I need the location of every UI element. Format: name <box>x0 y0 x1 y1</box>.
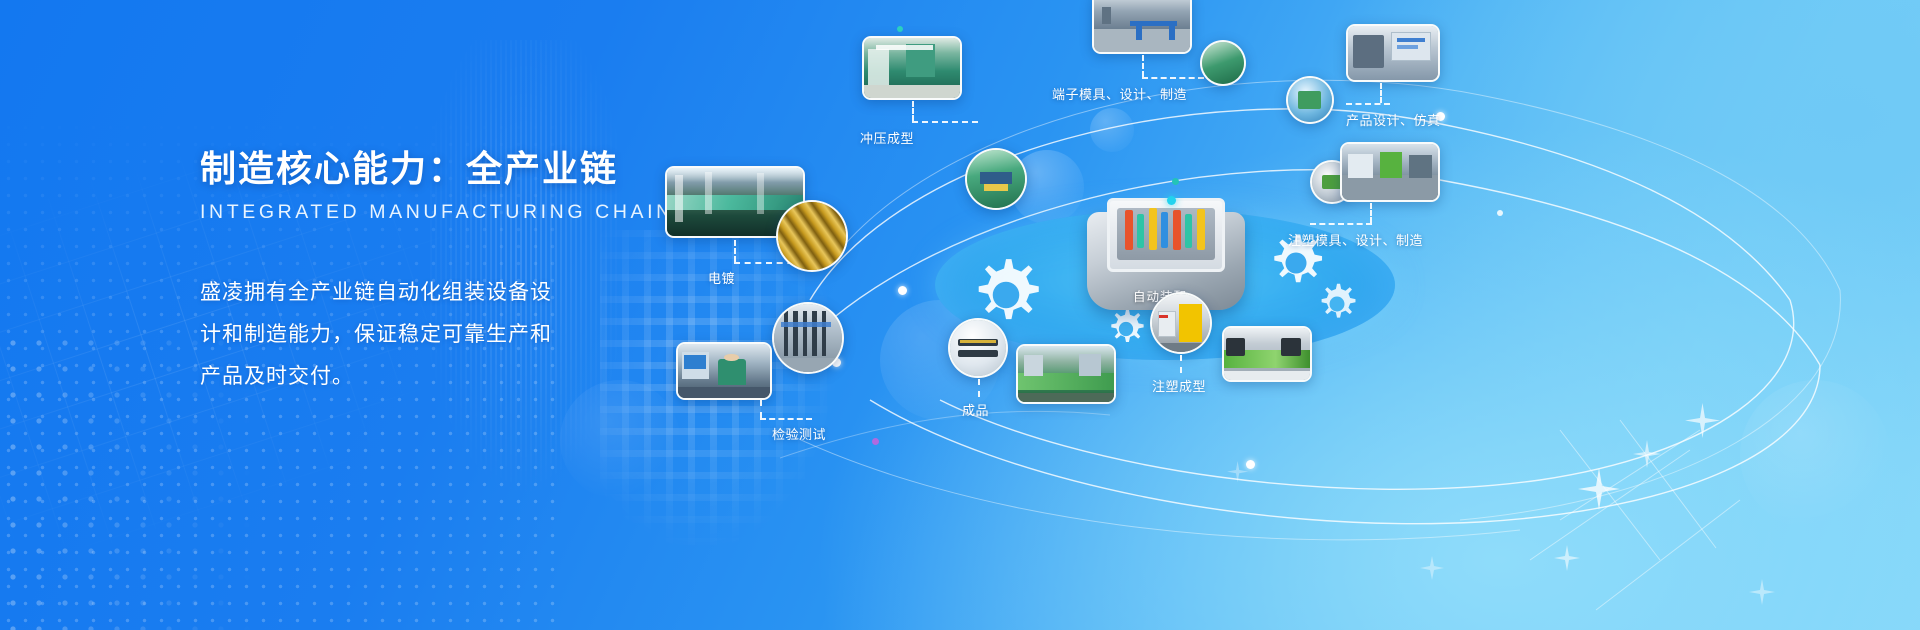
thumb-finished-product[interactable] <box>948 318 1008 378</box>
connector-finished-vertical <box>978 379 980 397</box>
manufacturing-chain-banner: 制造核心能力：全产业链 INTEGRATED MANUFACTURING CHA… <box>0 0 1920 630</box>
connector-electroplating-vertical <box>734 240 736 262</box>
yellow-injection-machine-photo <box>1152 294 1210 352</box>
accent-dot-cyan-1 <box>897 26 903 32</box>
test-probe-fixture-photo <box>774 304 842 372</box>
gold-terminal-mold-photo <box>778 202 846 270</box>
green-circuit-board-photo <box>1202 42 1244 84</box>
label-finished-product: 成品 <box>962 400 989 419</box>
connector-terminal-mold-horizontal <box>1142 77 1204 79</box>
thumb-inspection-testing[interactable] <box>676 342 772 400</box>
label-injection-form: 注塑成型 <box>1152 376 1206 395</box>
connector-product-design-horizontal <box>1346 103 1390 105</box>
connector-injection-mold-vertical <box>1370 203 1372 223</box>
thumb-terminal-mold[interactable] <box>1092 0 1192 54</box>
orbit-node-dot-1 <box>898 286 907 295</box>
label-product-design: 产品设计、仿真 <box>1346 110 1441 129</box>
stamping-machine-photo <box>864 38 960 98</box>
inspection-testing-photo <box>678 344 770 398</box>
connector-injection-mold-horizontal <box>1310 223 1372 225</box>
supply-chain-diagram: 自动装配 电镀 <box>780 0 1920 630</box>
connector-product-design-vertical <box>1380 83 1382 103</box>
thumb-yellow-injection-machine[interactable] <box>1150 292 1212 354</box>
accent-dot-white-1 <box>1497 210 1503 216</box>
injection-mold-workshop-photo <box>1342 144 1438 200</box>
connector-injection-form-vertical <box>1180 355 1182 373</box>
label-electroplating: 电镀 <box>708 268 735 287</box>
thumb-stamping[interactable] <box>862 36 962 100</box>
accent-dot-purple <box>872 438 879 445</box>
connector-inspection-vertical <box>760 400 762 418</box>
label-stamping: 冲压成型 <box>860 128 914 147</box>
connector-stamping-horizontal <box>912 121 978 123</box>
label-terminal-mold: 端子模具、设计、制造 <box>1052 84 1187 103</box>
thumb-product-design[interactable] <box>1346 24 1440 82</box>
thumb-green-production-line[interactable] <box>1016 344 1116 404</box>
terminal-mold-workshop-photo <box>1094 0 1190 52</box>
glow-bubble-6 <box>560 380 680 500</box>
thumb-green-circuit-board[interactable] <box>1200 40 1246 86</box>
label-inspection-testing: 检验测试 <box>772 424 826 443</box>
label-injection-mold: 注塑模具、设计、制造 <box>1288 230 1423 249</box>
finished-connector-photo <box>950 320 1006 376</box>
description-text: 盛凌拥有全产业链自动化组装设备设计和制造能力，保证稳定可靠生产和产品及时交付。 <box>200 272 560 398</box>
gear-icon-far-right <box>1315 282 1359 326</box>
thumb-injection-mold[interactable] <box>1340 142 1440 202</box>
green-stamping-unit-photo <box>967 150 1025 208</box>
thumb-test-probe-fixture[interactable] <box>772 302 844 374</box>
green-production-line-photo <box>1018 346 1114 402</box>
accent-dot-cyan-2 <box>1172 178 1179 185</box>
assembly-conveyor-photo <box>1224 328 1310 380</box>
cad-design-photo <box>1348 26 1438 80</box>
orbit-node-dot-4 <box>1246 460 1255 469</box>
thumb-green-stamping-unit[interactable] <box>965 148 1027 210</box>
connector-stamping-vertical <box>912 101 914 121</box>
thumb-gold-terminal-mold[interactable] <box>776 200 848 272</box>
thumb-cad-part[interactable] <box>1286 76 1334 124</box>
thumb-assembly-conveyor[interactable] <box>1222 326 1312 382</box>
connector-terminal-mold-vertical <box>1142 55 1144 77</box>
connector-inspection-horizontal <box>760 418 812 420</box>
cad-part-render-photo <box>1288 78 1332 122</box>
